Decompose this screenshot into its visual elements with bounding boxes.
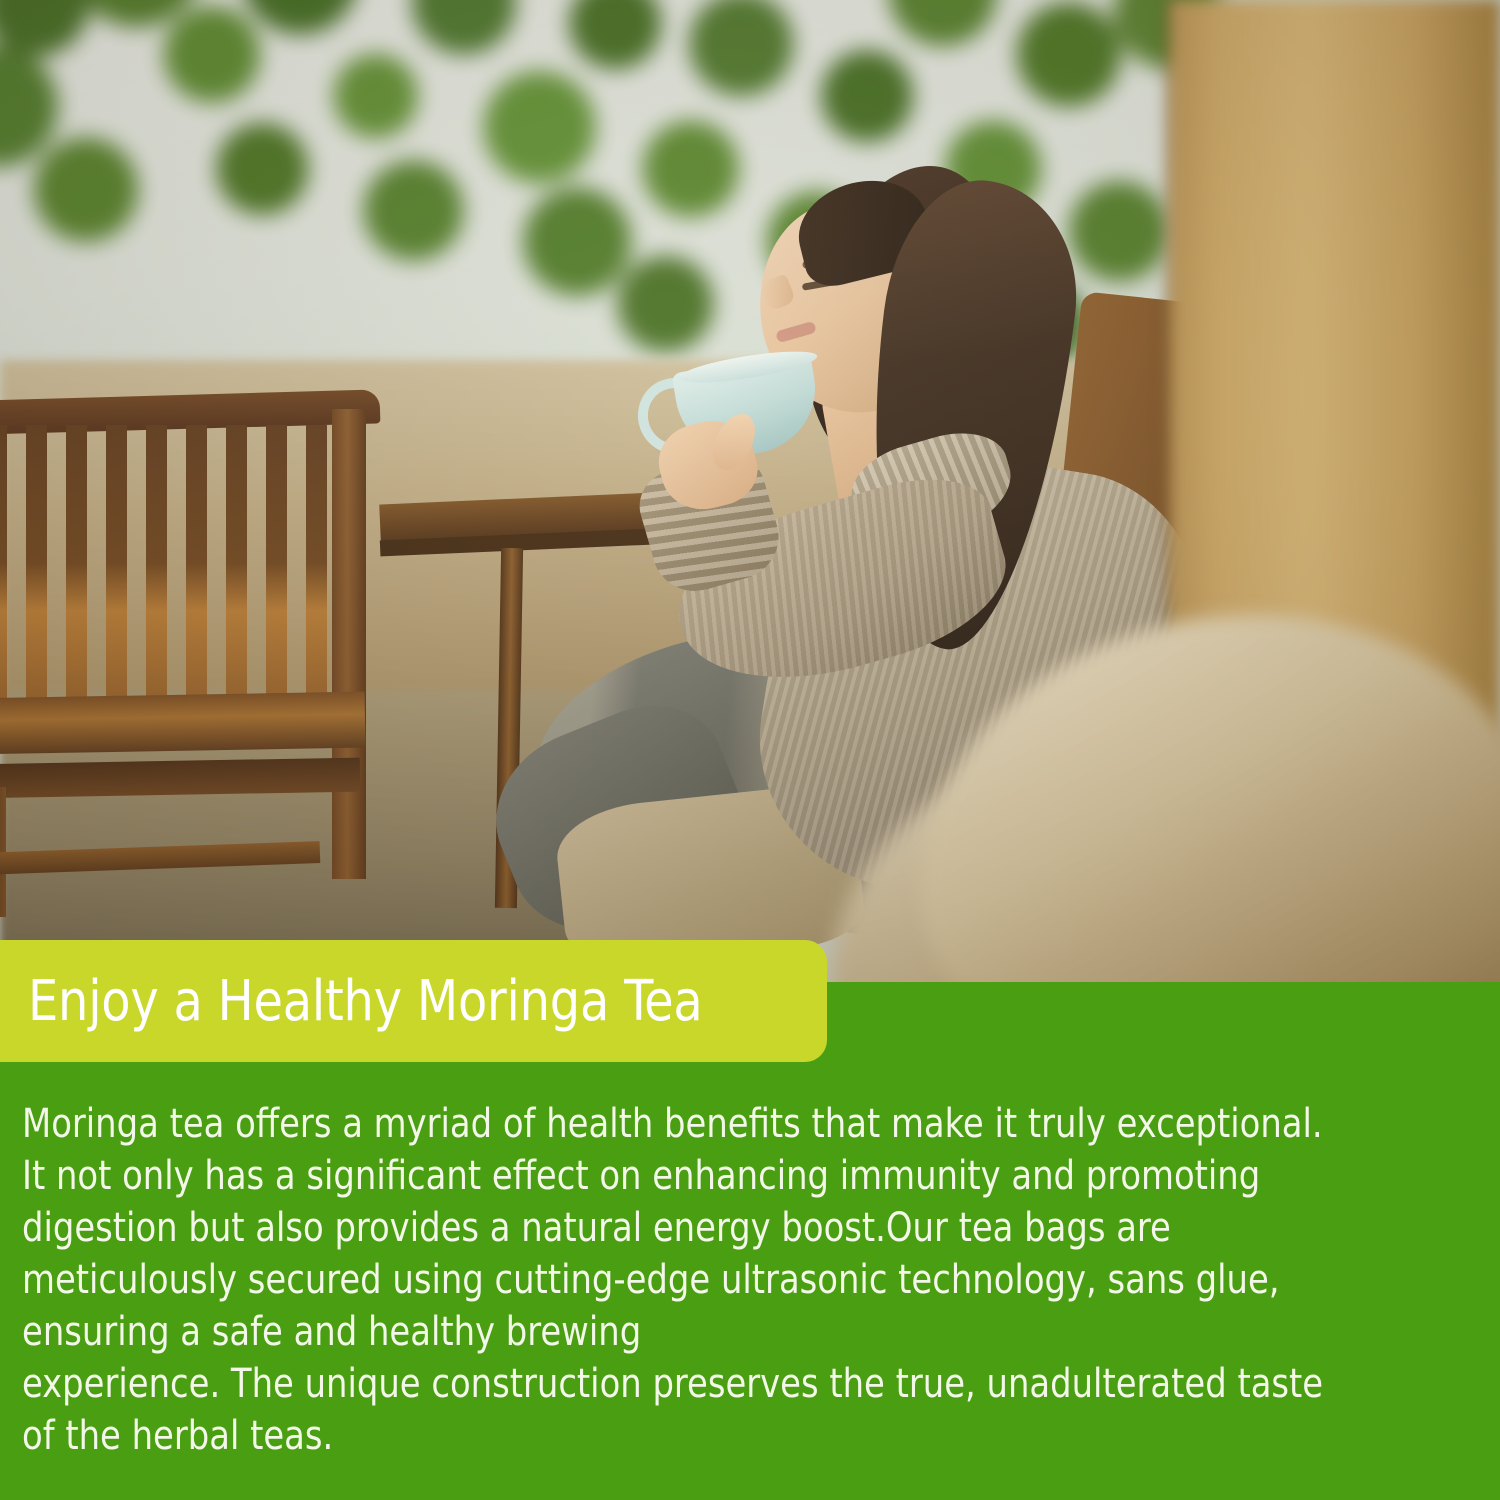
bench-seat bbox=[0, 692, 365, 755]
bench-slat bbox=[226, 425, 247, 725]
headline-text: Enjoy a Healthy Moringa Tea bbox=[28, 969, 703, 1034]
wooden-bench bbox=[0, 395, 400, 915]
bench-slat bbox=[306, 425, 327, 725]
product-infographic-page: Enjoy a Healthy Moringa Tea Moringa tea … bbox=[0, 0, 1500, 1500]
bench-slat bbox=[106, 425, 127, 725]
lifestyle-photo bbox=[0, 0, 1500, 985]
bench-slat bbox=[26, 425, 47, 725]
bench-slat bbox=[66, 425, 87, 725]
bench-slat bbox=[186, 425, 207, 725]
bench-slat bbox=[266, 425, 287, 725]
bench-slat bbox=[0, 425, 7, 725]
bench-apron bbox=[0, 758, 360, 799]
headline-banner: Enjoy a Healthy Moringa Tea bbox=[0, 940, 827, 1062]
bench-slat bbox=[146, 425, 167, 725]
description-body-text: Moringa tea offers a myriad of health be… bbox=[22, 1098, 1396, 1462]
bench-stretcher bbox=[0, 841, 320, 875]
